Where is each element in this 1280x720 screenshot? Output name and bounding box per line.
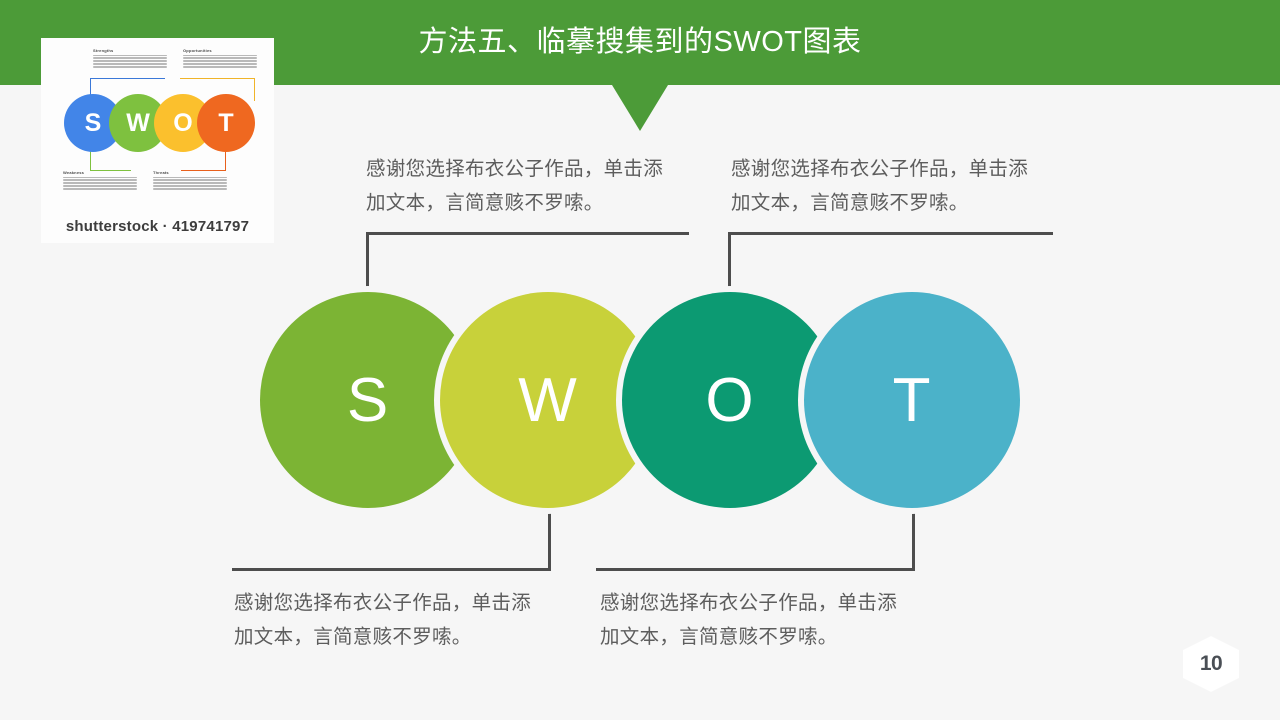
swot-circle-opportunities-label: O xyxy=(705,365,754,436)
thumbnail-circle-t: T xyxy=(197,94,255,152)
description-top-right[interactable]: 感谢您选择布衣公子作品，单击添加文本，言简意赅不罗嗦。 xyxy=(731,152,1043,220)
description-bottom-left[interactable]: 感谢您选择布衣公子作品，单击添加文本，言简意赅不罗嗦。 xyxy=(234,586,546,654)
page-number-label: 10 xyxy=(1200,652,1222,676)
swot-circle-threats[interactable]: T xyxy=(804,292,1020,508)
swot-circle-threats-label: T xyxy=(893,365,932,436)
slide-canvas: 方法五、临摹搜集到的SWOT图表 Strengths Opportunities… xyxy=(0,0,1280,720)
header-pointer-triangle xyxy=(612,85,668,131)
thumbnail-caption-threats: Threats xyxy=(153,170,227,200)
description-bottom-right[interactable]: 感谢您选择布衣公子作品，单击添加文本，言简意赅不罗嗦。 xyxy=(600,586,912,654)
connector-bottom-right xyxy=(596,510,915,571)
connector-top-right xyxy=(728,232,1053,293)
swot-circle-strengths-label: S xyxy=(347,365,389,436)
page-number-badge: 10 xyxy=(1183,636,1239,692)
thumbnail-caption-weakness: Weakness xyxy=(63,170,137,200)
thumbnail-caption-opportunities: Opportunities xyxy=(183,48,257,78)
connector-top-left xyxy=(366,232,689,293)
description-top-left[interactable]: 感谢您选择布衣公子作品，单击添加文本，言简意赅不罗嗦。 xyxy=(366,152,678,220)
reference-thumbnail[interactable]: Strengths Opportunities Weakness Threats… xyxy=(41,38,274,243)
connector-bottom-left xyxy=(232,510,551,571)
thumbnail-caption-strengths: Strengths xyxy=(93,48,167,78)
swot-circle-weaknesses-label: W xyxy=(518,365,578,436)
thumbnail-watermark: shutterstock · 419741797 xyxy=(41,218,274,235)
